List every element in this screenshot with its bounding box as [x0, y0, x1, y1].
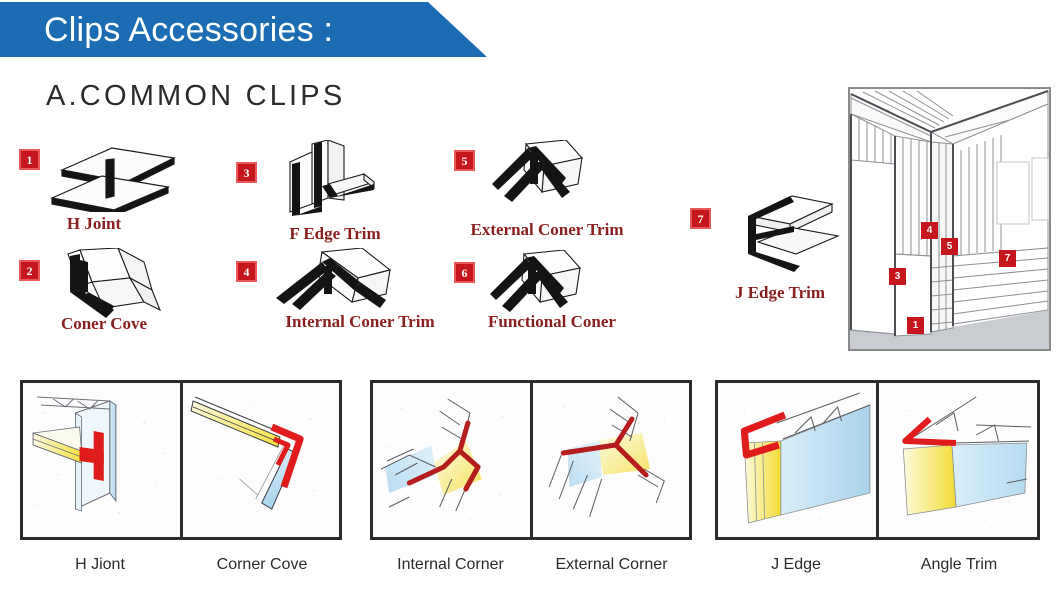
clip-label-7: J Edge Trim	[690, 283, 870, 303]
clip-badge-5: 5	[454, 150, 475, 171]
clip-badge-6: 6	[454, 262, 475, 283]
room-callout-4: 4	[921, 222, 938, 239]
photo-cell-angle-trim[interactable]	[876, 383, 1037, 537]
clip-label-6: Functional Coner	[452, 312, 652, 332]
room-callout-3: 3	[889, 268, 906, 285]
page-root: Clips Accessories : A.COMMON CLIPS 1 H J…	[0, 0, 1059, 592]
room-diagram-art	[849, 88, 1050, 350]
j-edge-trim-icon	[730, 190, 840, 279]
photo-caption-angle-trim: Angle Trim	[878, 556, 1040, 574]
clip-badge-2: 2	[19, 260, 40, 281]
photo-caption-j-edge: J Edge	[715, 556, 877, 574]
room-callout-5: 5	[941, 238, 958, 255]
photo-caption-corner-cove: Corner Cove	[182, 556, 342, 574]
photo-caption-internal-corner: Internal Corner	[370, 556, 531, 574]
h-joint-photo	[23, 383, 180, 537]
room-callout-1: 1	[907, 317, 924, 334]
photo-group-3	[715, 380, 1040, 540]
angle-trim-photo	[879, 383, 1037, 537]
section-heading: A.COMMON CLIPS	[46, 80, 345, 113]
clip-label-3: F Edge Trim	[240, 224, 430, 244]
clip-badge-3: 3	[236, 162, 257, 183]
clip-label-4: Internal Coner Trim	[250, 312, 470, 332]
clip-badge-4: 4	[236, 261, 257, 282]
j-edge-photo	[718, 383, 876, 537]
photo-group-2	[370, 380, 692, 540]
clip-label-5: External Coner Trim	[442, 220, 652, 240]
banner-title: Clips Accessories :	[44, 6, 333, 54]
external-corner-trim-icon	[490, 140, 600, 225]
clip-badge-1: 1	[19, 149, 40, 170]
installation-room-diagram[interactable]: 4 5 7 3 1 6 2	[848, 87, 1051, 351]
photo-caption-external-corner: External Corner	[531, 556, 692, 574]
photo-cell-h-joint[interactable]	[23, 383, 180, 537]
f-edge-trim-icon	[278, 140, 388, 231]
photo-cell-j-edge[interactable]	[718, 383, 876, 537]
photo-caption-h-joint: H Jiont	[20, 556, 180, 574]
photo-cell-internal-corner[interactable]	[373, 383, 530, 537]
room-callout-7: 7	[999, 250, 1016, 267]
photo-cell-corner-cove[interactable]	[180, 383, 340, 537]
clip-badge-7: 7	[690, 208, 711, 229]
clip-label-2: Coner Cove	[14, 314, 194, 334]
corner-cove-photo	[183, 383, 340, 537]
h-joint-icon	[44, 142, 179, 217]
internal-corner-photo	[373, 383, 530, 537]
header-banner: Clips Accessories :	[0, 2, 488, 57]
clip-label-1: H Joint	[14, 214, 174, 234]
external-corner-photo	[533, 383, 690, 537]
photo-cell-external-corner[interactable]	[530, 383, 690, 537]
photo-group-1	[20, 380, 342, 540]
